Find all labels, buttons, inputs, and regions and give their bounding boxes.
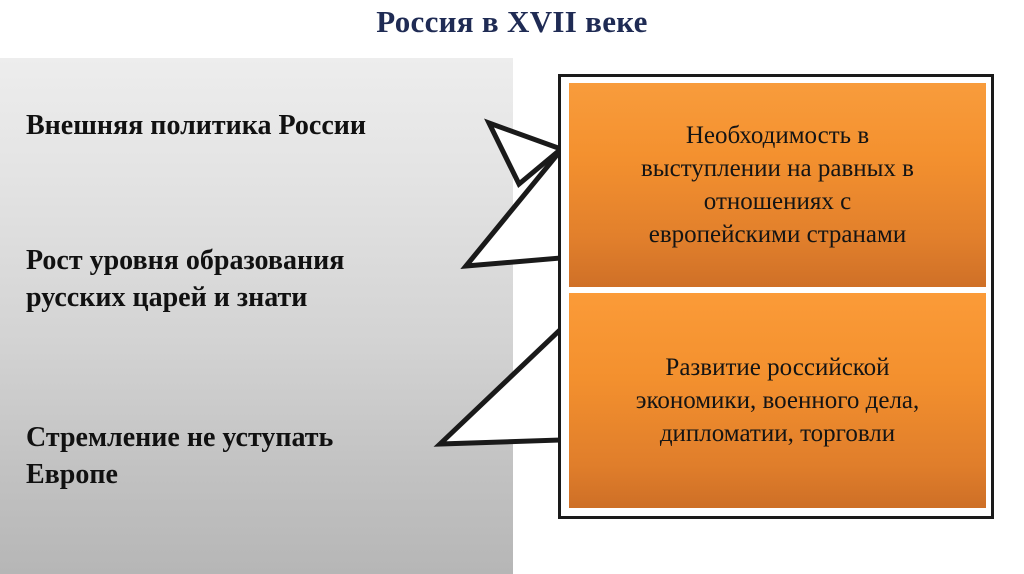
effects-frame: Необходимость в выступлении на равных в … — [558, 74, 994, 519]
left-item-foreign-policy: Внешняя политика России — [26, 108, 496, 145]
slide-canvas: Россия в XVII веке Внешняя политика Росс… — [0, 0, 1024, 574]
effect-box-equal-standing-label: Необходимость в выступлении на равных в … — [641, 119, 914, 252]
effect-box-development: Развитие российской экономики, военного … — [569, 293, 986, 508]
left-item-aspiration-europe: Стремление не уступать Европе — [26, 420, 496, 494]
effect-box-equal-standing: Необходимость в выступлении на равных в … — [569, 83, 986, 287]
effect-box-development-label: Развитие российской экономики, военного … — [636, 351, 920, 451]
page-title: Россия в XVII веке — [0, 4, 1024, 40]
left-item-education-growth: Рост уровня образования русских царей и … — [26, 243, 496, 317]
